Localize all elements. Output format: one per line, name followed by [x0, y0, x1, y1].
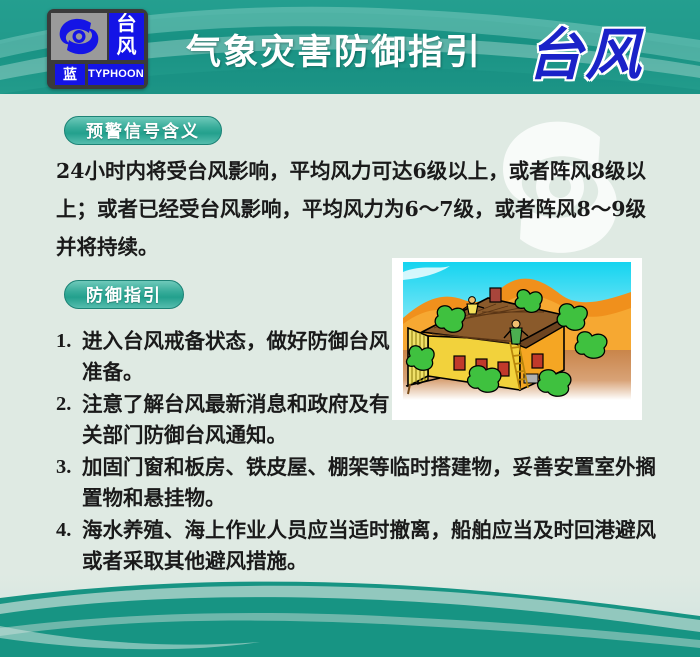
section-badge-meaning: 预警信号含义 — [64, 116, 222, 145]
list-item: 4. 海水养殖、海上作业人员应当适时撤离，船舶应当及时回港避风或者采取其他避风措… — [56, 515, 656, 574]
icon-level-label: 蓝 — [55, 64, 85, 85]
icon-english-label: TYPHOON — [88, 64, 144, 85]
list-item-text: 加固门窗和板房、铁皮屋、棚架等临时搭建物，妥善安置室外搁置物和悬挂物。 — [82, 455, 656, 510]
list-item-text: 海水养殖、海上作业人员应当适时撤离，船舶应当及时回港避风或者采取其他避风措施。 — [82, 518, 656, 573]
icon-hanzi-char2: 风 — [117, 36, 137, 58]
poster-body: 预警信号含义 24小时内将受台风影响，平均风力可达6级以上，或者阵风8级以上；或… — [0, 94, 700, 574]
list-item-text: 进入台风戒备状态，做好防御台风准备。 — [82, 329, 390, 384]
poster-header: 台 风 蓝 TYPHOON 气象灾害防御指引 台风 — [0, 0, 700, 94]
icon-hanzi-label: 台 风 — [109, 13, 144, 60]
page-title: 气象灾害防御指引 — [186, 24, 482, 75]
meaning-paragraph: 24小时内将受台风影响，平均风力可达6级以上，或者阵风8级以上；或者已经受台风影… — [56, 152, 656, 266]
list-item-number: 2. — [56, 389, 78, 420]
list-item-number: 3. — [56, 452, 78, 483]
typhoon-warning-poster: 台 风 蓝 TYPHOON 气象灾害防御指引 台风 预警信号含义 24小时内将受… — [0, 0, 700, 657]
list-item-number: 1. — [56, 326, 78, 357]
typhoon-spiral-icon — [51, 13, 107, 60]
typhoon-warning-signal-icon: 台 风 蓝 TYPHOON — [47, 9, 148, 89]
list-item: 1. 进入台风戒备状态，做好防御台风准备。 — [56, 326, 400, 388]
list-item-number: 4. — [56, 515, 78, 546]
footer-wave-decoration — [0, 574, 700, 657]
list-item: 2. 注意了解台风最新消息和政府及有关部门防御台风通知。 — [56, 389, 400, 451]
list-item: 3. 加固门窗和板房、铁皮屋、棚架等临时搭建物，妥善安置室外搁置物和悬挂物。 — [56, 452, 656, 514]
hazard-keyword: 台风 — [527, 10, 643, 91]
poster-footer — [0, 574, 700, 657]
list-item-text: 注意了解台风最新消息和政府及有关部门防御台风通知。 — [82, 392, 390, 447]
section-badge-guidelines: 防御指引 — [64, 280, 184, 309]
icon-hanzi-char1: 台 — [117, 13, 137, 35]
guidelines-list: 1. 进入台风戒备状态，做好防御台风准备。 2. 注意了解台风最新消息和政府及有… — [56, 326, 656, 574]
